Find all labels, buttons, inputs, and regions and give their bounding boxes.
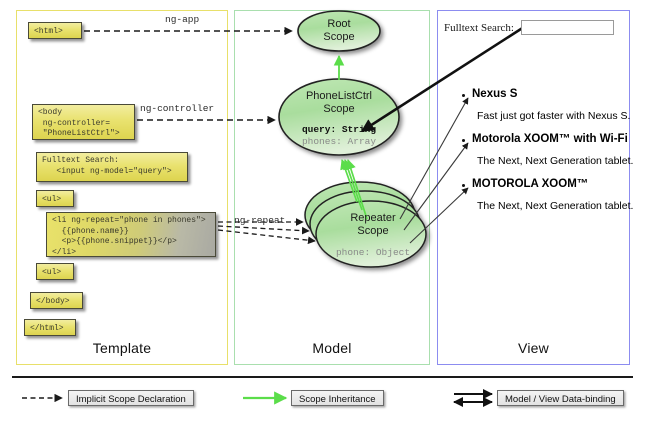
- list-bullet-icon: [462, 184, 465, 187]
- search-input[interactable]: [521, 20, 614, 35]
- code-box-body-close: </body>: [30, 292, 83, 309]
- diagram-canvas: Template Model View: [0, 0, 645, 425]
- edge-label-ng-repeat: ng-repeat: [234, 215, 285, 226]
- view-search-label: Fulltext Search:: [444, 22, 514, 34]
- code-box-li-ng-repeat: <li ng-repeat="phone in phones"> {{phone…: [46, 212, 216, 257]
- panel-model: Model: [234, 10, 430, 365]
- list-bullet-icon: [462, 94, 465, 97]
- code-box-ul-close: <ul>: [36, 263, 74, 280]
- legend-divider: [12, 376, 633, 378]
- panel-model-title: Model: [235, 340, 429, 356]
- view-item-snippet: The Next, Next Generation tablet.: [477, 155, 633, 167]
- view-item-name: MOTOROLA XOOM™: [472, 178, 588, 190]
- view-item-name: Nexus S: [472, 88, 517, 100]
- code-box-html-open: <html>: [28, 22, 82, 39]
- panel-template: Template: [16, 10, 228, 365]
- code-box-html-close: </html>: [24, 319, 76, 336]
- panel-template-title: Template: [17, 340, 227, 356]
- panel-view-title: View: [438, 340, 629, 356]
- view-item-snippet: The Next, Next Generation tablet.: [477, 200, 633, 212]
- view-item-snippet: Fast just got faster with Nexus S.: [477, 110, 630, 122]
- list-bullet-icon: [462, 139, 465, 142]
- legend-item-implicit-scope-declaration: Implicit Scope Declaration: [68, 390, 194, 406]
- edge-label-ng-controller: ng-controller: [140, 103, 214, 114]
- code-box-ul-open: <ul>: [36, 190, 74, 207]
- legend-item-model-view-data-binding: Model / View Data-binding: [497, 390, 624, 406]
- code-box-search-input: Fulltext Search: <input ng-model="query"…: [36, 152, 188, 182]
- code-box-body-open: <body ng-controller= "PhoneListCtrl">: [32, 104, 135, 140]
- view-item-name: Motorola XOOM™ with Wi-Fi: [472, 133, 628, 145]
- edge-label-ng-app: ng-app: [165, 14, 199, 25]
- legend-item-scope-inheritance: Scope Inheritance: [291, 390, 384, 406]
